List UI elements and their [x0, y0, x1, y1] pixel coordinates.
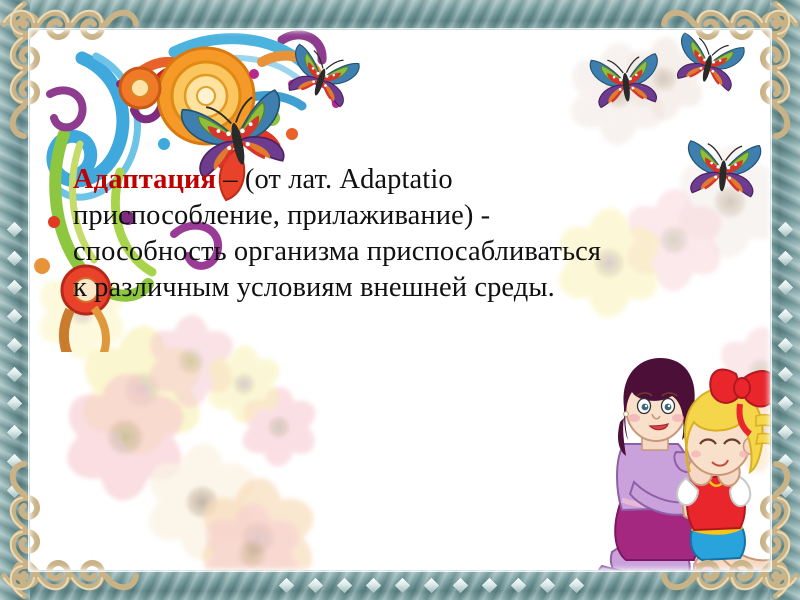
term-adaptatsiya: Адаптация [73, 164, 216, 195]
frame-diamond [778, 425, 794, 441]
frame-diamond [395, 578, 411, 594]
frame-diamond [778, 396, 794, 412]
frame-diamond [7, 251, 23, 267]
frame-diamond [366, 578, 382, 594]
frame-diamonds-right [780, 215, 791, 505]
frame-diamond [778, 280, 794, 296]
frame-diamond [453, 578, 469, 594]
definition-line-1: Адаптация – (от лат. Adaptatio [73, 162, 733, 198]
frame-diamonds-left [9, 215, 20, 505]
definition-line-1-rest: – (от лат. Adaptatio [216, 164, 453, 195]
frame-diamond [7, 483, 23, 499]
frame-diamond [778, 483, 794, 499]
frame-diamond [7, 280, 23, 296]
frame-diamond [7, 396, 23, 412]
orange-flower-mid [120, 68, 160, 108]
frame-diamond [7, 309, 23, 325]
mother-comforting-crying-girl [590, 352, 770, 570]
frame-diamond [778, 454, 794, 470]
frame-diamond [511, 578, 527, 594]
frame-diamond [7, 338, 23, 354]
frame-band-bottom [0, 570, 800, 600]
definition-line-2: приспособление, прилаживание) - [73, 198, 733, 234]
flower-center [233, 373, 255, 395]
flower-pink-bottom-left [204, 506, 300, 570]
frame-diamond [424, 578, 440, 594]
frame-diamond [279, 578, 295, 594]
frame-diamond [778, 222, 794, 238]
frame-diamond [778, 338, 794, 354]
slide-canvas: Адаптация – (от лат. Adaptatio приспособ… [0, 0, 800, 600]
frame-band-top [0, 0, 800, 30]
frame-diamond [7, 425, 23, 441]
frame-diamond [7, 454, 23, 470]
frame-diamond [7, 222, 23, 238]
frame-diamond [569, 578, 585, 594]
frame-band-left [0, 0, 30, 600]
frame-diamond [778, 309, 794, 325]
butterfly-top-right-a [583, 48, 669, 120]
flower-center [107, 419, 142, 454]
frame-diamonds-bottom [272, 580, 591, 591]
frame-diamond [308, 578, 324, 594]
frame-diamond [778, 367, 794, 383]
frame-diamond [337, 578, 353, 594]
frame-band-right [770, 0, 800, 600]
definition-line-3: способность организма приспосабливаться [73, 234, 733, 270]
flower-yellow-top-small [208, 348, 280, 420]
frame-diamond [540, 578, 556, 594]
frame-diamond [778, 251, 794, 267]
frame-diamond [482, 578, 498, 594]
definition-text-block: Адаптация – (от лат. Adaptatio приспособ… [73, 162, 733, 306]
definition-line-4: к различным условиям внешней среды. [73, 270, 733, 306]
slide-content-area: Адаптация – (от лат. Adaptatio приспособ… [30, 30, 770, 570]
frame-diamond [7, 367, 23, 383]
